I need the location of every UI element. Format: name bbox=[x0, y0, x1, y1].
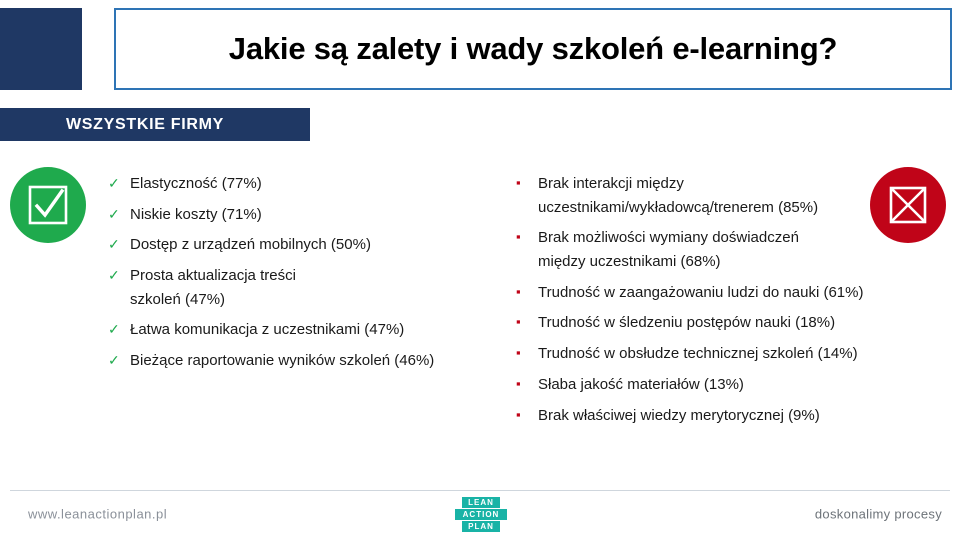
pros-column: ✓ Elastyczność (77%) ✓ Niskie koszty (71… bbox=[108, 172, 508, 380]
subtitle-label: WSZYSTKIE FIRMY bbox=[66, 116, 224, 134]
checkmark-box-icon bbox=[26, 183, 70, 227]
list-item-text: Brak właściwej wiedzy merytorycznej (9%) bbox=[538, 404, 820, 428]
title-box: Jakie są zalety i wady szkoleń e-learnin… bbox=[114, 8, 952, 90]
list-item: ▪ Trudność w śledzeniu postępów nauki (1… bbox=[516, 311, 916, 335]
logo-line-3: PLAN bbox=[462, 521, 500, 532]
list-item: ▪ Brak właściwej wiedzy merytorycznej (9… bbox=[516, 404, 916, 428]
check-icon: ✓ bbox=[108, 172, 130, 194]
square-bullet-icon: ▪ bbox=[516, 226, 538, 248]
list-item-text: Trudność w obsłudze technicznej szkoleń … bbox=[538, 342, 858, 366]
list-item: ✓ Bieżące raportowanie wyników szkoleń (… bbox=[108, 349, 508, 373]
list-item-text: Elastyczność (77%) bbox=[130, 172, 262, 196]
list-item-text: Brak możliwości wymiany doświadczeń międ… bbox=[538, 226, 838, 273]
list-item: ▪ Trudność w zaangażowaniu ludzi do nauk… bbox=[516, 281, 916, 305]
list-item-text: Bieżące raportowanie wyników szkoleń (46… bbox=[130, 349, 434, 373]
footer-divider bbox=[10, 490, 950, 491]
list-item-text: Prosta aktualizacja treści szkoleń (47%) bbox=[130, 264, 330, 311]
list-item-text: Trudność w zaangażowaniu ludzi do nauki … bbox=[538, 281, 863, 305]
list-item-text: Słaba jakość materiałów (13%) bbox=[538, 373, 744, 397]
square-bullet-icon: ▪ bbox=[516, 404, 538, 426]
pros-list: ✓ Elastyczność (77%) ✓ Niskie koszty (71… bbox=[108, 172, 508, 373]
square-bullet-icon: ▪ bbox=[516, 172, 538, 194]
list-item: ▪ Trudność w obsłudze technicznej szkole… bbox=[516, 342, 916, 366]
list-item-text: Niskie koszty (71%) bbox=[130, 203, 262, 227]
check-icon: ✓ bbox=[108, 318, 130, 340]
cons-list: ▪ Brak interakcji między uczestnikami/wy… bbox=[516, 172, 916, 427]
header-accent-block bbox=[0, 8, 82, 90]
square-bullet-icon: ▪ bbox=[516, 311, 538, 333]
list-item-text: Brak interakcji między uczestnikami/wykł… bbox=[538, 172, 856, 219]
list-item: ▪ Brak możliwości wymiany doświadczeń mi… bbox=[516, 226, 916, 273]
square-bullet-icon: ▪ bbox=[516, 373, 538, 395]
check-icon: ✓ bbox=[108, 233, 130, 255]
page-title: Jakie są zalety i wady szkoleń e-learnin… bbox=[229, 31, 837, 67]
footer-tagline: doskonalimy procesy bbox=[815, 507, 942, 522]
footer-website[interactable]: www.leanactionplan.pl bbox=[28, 507, 167, 522]
list-item: ✓ Niskie koszty (71%) bbox=[108, 203, 508, 227]
list-item: ✓ Dostęp z urządzeń mobilnych (50%) bbox=[108, 233, 508, 257]
list-item: ▪ Brak interakcji między uczestnikami/wy… bbox=[516, 172, 916, 219]
list-item-text: Trudność w śledzeniu postępów nauki (18%… bbox=[538, 311, 835, 335]
cons-column: ▪ Brak interakcji między uczestnikami/wy… bbox=[516, 172, 916, 434]
slide: Jakie są zalety i wady szkoleń e-learnin… bbox=[0, 0, 960, 540]
list-item-text: Dostęp z urządzeń mobilnych (50%) bbox=[130, 233, 371, 257]
check-icon: ✓ bbox=[108, 203, 130, 225]
list-item: ✓ Łatwa komunikacja z uczestnikami (47%) bbox=[108, 318, 508, 342]
square-bullet-icon: ▪ bbox=[516, 281, 538, 303]
logo-line-2: ACTION bbox=[455, 509, 507, 520]
check-icon: ✓ bbox=[108, 264, 130, 286]
list-item: ✓ Elastyczność (77%) bbox=[108, 172, 508, 196]
leanactionplan-logo: LEAN ACTION PLAN bbox=[455, 497, 507, 533]
pros-badge bbox=[10, 167, 86, 243]
logo-line-1: LEAN bbox=[462, 497, 500, 508]
list-item: ▪ Słaba jakość materiałów (13%) bbox=[516, 373, 916, 397]
list-item-text: Łatwa komunikacja z uczestnikami (47%) bbox=[130, 318, 404, 342]
subtitle-bar: WSZYSTKIE FIRMY bbox=[0, 108, 310, 141]
square-bullet-icon: ▪ bbox=[516, 342, 538, 364]
check-icon: ✓ bbox=[108, 349, 130, 371]
list-item: ✓ Prosta aktualizacja treści szkoleń (47… bbox=[108, 264, 508, 311]
